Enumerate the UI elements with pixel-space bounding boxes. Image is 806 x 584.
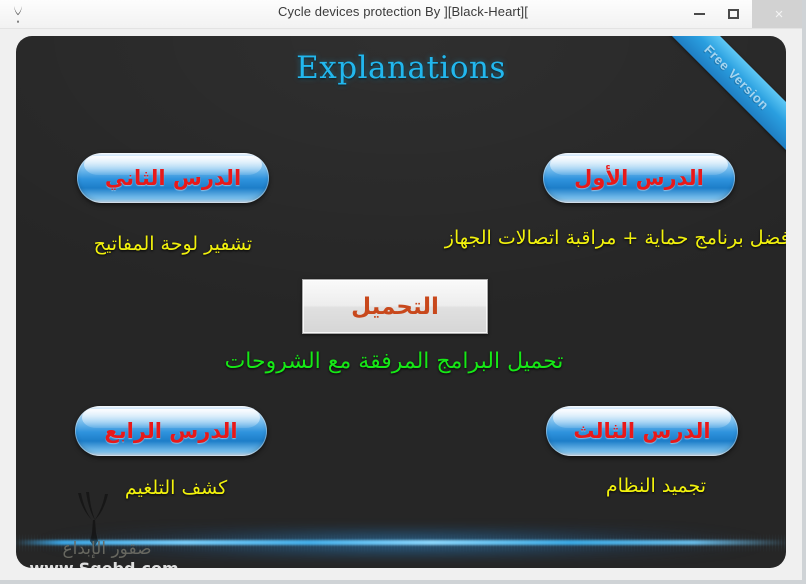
content-panel: Free Version Explanations الدرس الثاني ت… — [16, 36, 786, 568]
lesson-three-label: الدرس الثالث — [546, 406, 738, 456]
window-edge-right — [802, 0, 806, 584]
download-button[interactable]: التحميل — [302, 279, 488, 334]
lesson-three-button[interactable]: الدرس الثالث — [546, 406, 738, 456]
minimize-icon — [694, 13, 705, 15]
lesson-one-button[interactable]: الدرس الأول — [543, 153, 735, 203]
window-edge-bottom — [0, 580, 806, 584]
lesson-one-label: الدرس الأول — [543, 153, 735, 203]
watermark-arabic: صقور الإبداع — [32, 539, 182, 559]
lesson-four-button[interactable]: الدرس الرابع — [75, 406, 267, 456]
lesson-two-caption: تشفير لوحة المفاتيح — [88, 233, 258, 255]
close-button[interactable]: × — [752, 0, 806, 28]
close-icon: × — [775, 6, 784, 23]
lesson-four-label: الدرس الرابع — [75, 406, 267, 456]
title-bar: Cycle devices protection By ][Black-Hear… — [0, 0, 806, 29]
watermark-url: www.Sqebd.com — [24, 559, 184, 568]
watermark: صقور الإبداع www.Sqebd.com — [24, 491, 194, 568]
download-label: التحميل — [351, 294, 439, 320]
lesson-one-caption: أفضل برنامج حماية + مراقبة اتصالات الجها… — [459, 227, 786, 249]
lesson-two-button[interactable]: الدرس الثاني — [77, 153, 269, 203]
minimize-button[interactable] — [684, 0, 714, 28]
lesson-three-caption: تجميد النظام — [561, 475, 751, 497]
download-caption: تحميل البرامج المرفقة مع الشروحات — [221, 349, 567, 374]
lesson-two-label: الدرس الثاني — [77, 153, 269, 203]
page-title: Explanations — [296, 50, 506, 86]
application-window: Cycle devices protection By ][Black-Hear… — [0, 0, 806, 584]
header: Explanations — [16, 50, 786, 86]
maximize-button[interactable] — [718, 0, 748, 28]
maximize-icon — [728, 9, 739, 19]
